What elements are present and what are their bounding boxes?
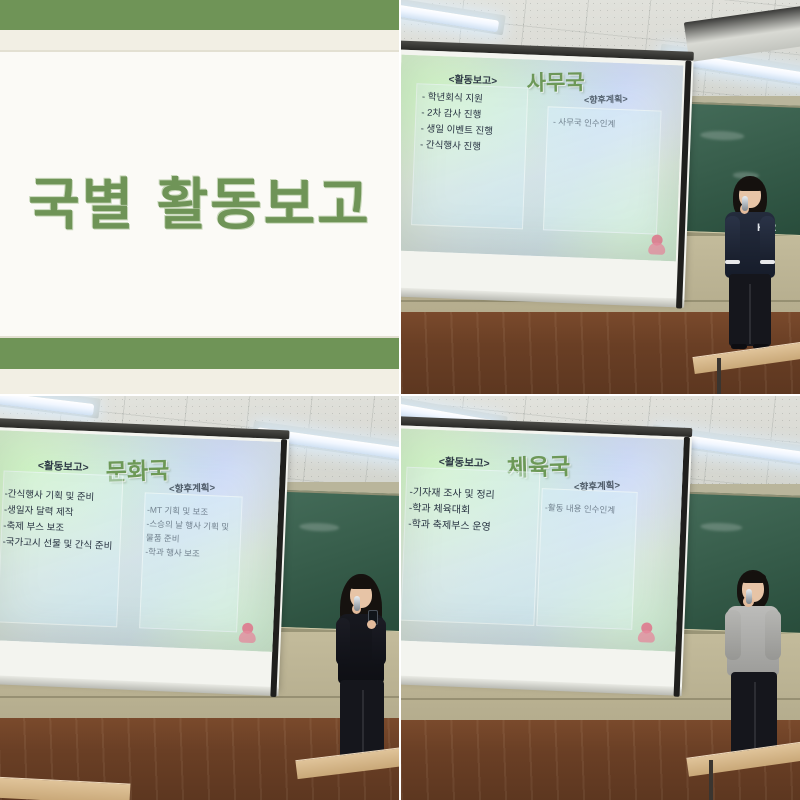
desk-leg	[709, 760, 713, 800]
activity-report-list: -기자재 조사 및 정리 -학과 체육대회 -학과 축제부스 운영	[408, 485, 538, 538]
logo-body	[638, 630, 655, 643]
chalk-smudge	[299, 522, 339, 531]
label-future-plan: <향후계획>	[584, 92, 628, 106]
collage-seam-vertical	[399, 0, 401, 800]
microphone-icon	[746, 589, 752, 604]
organization-logo-watermark	[638, 622, 656, 643]
logo-body	[648, 242, 665, 255]
chalk-smudge	[700, 130, 744, 141]
panel-munhwaguk: <활동보고> 문화국 <향후계획> -간식행사 기획 및 준비 -생일자 달력 …	[0, 396, 399, 800]
title-slide-hairline-top	[0, 50, 399, 52]
sleeve-stripe	[760, 260, 775, 264]
activity-report-list: - 학년회식 지원 - 2차 감사 진행 - 생일 이벤트 진행 - 간식행사 …	[420, 89, 528, 157]
organization-logo-watermark	[239, 622, 257, 643]
left-arm	[725, 610, 741, 660]
title-slide-bottom-band	[0, 338, 399, 370]
presenter-samuguk: K 2	[713, 176, 787, 352]
projection-screen: <활동보고> 사무국 <향후계획> - 학년회식 지원 - 2차 감사 진행 -…	[401, 40, 694, 311]
collage-seam-horizontal	[0, 394, 800, 396]
microphone-icon	[742, 196, 748, 211]
hair-fringe	[738, 179, 763, 191]
desk-leg	[717, 358, 721, 394]
projection-screen: <활동보고> 체육국 <향후계획> -기자재 조사 및 정리 -학과 체육대회 …	[401, 416, 692, 700]
photo-collage: 국별 활동보고	[0, 0, 800, 800]
panel-title-slide: 국별 활동보고	[0, 0, 399, 394]
title-slide-top-band	[0, 0, 399, 30]
panel-cheyukguk: <활동보고> 체육국 <향후계획> -기자재 조사 및 정리 -학과 체육대회 …	[401, 396, 800, 800]
hair-fringe	[349, 578, 374, 589]
pants-seam	[754, 682, 756, 752]
title-slide-card: 국별 활동보고	[0, 0, 399, 394]
future-plan-list: -MT 기획 및 보조 -스승의 날 행사 기획 및 물품 준비 -학과 행사 …	[145, 503, 243, 563]
projection-screen: <활동보고> 문화국 <향후계획> -간식행사 기획 및 준비 -생일자 달력 …	[0, 418, 290, 700]
left-arm	[336, 618, 350, 666]
shoe	[731, 344, 747, 349]
projected-slide-samuguk: <활동보고> 사무국 <향후계획> - 학년회식 지원 - 2차 감사 진행 -…	[401, 55, 683, 262]
title-slide-heading: 국별 활동보고	[0, 160, 399, 241]
projected-slide-cheyukguk: <활동보고> 체육국 <향후계획> -기자재 조사 및 정리 -학과 체육대회 …	[401, 428, 684, 651]
panel-samuguk: <활동보고> 사무국 <향후계획> - 학년회식 지원 - 2차 감사 진행 -…	[401, 0, 800, 394]
right-arm	[760, 216, 775, 262]
classroom-scene-cheyukguk: <활동보고> 체육국 <향후계획> -기자재 조사 및 정리 -학과 체육대회 …	[401, 396, 800, 800]
pants-seam	[362, 690, 364, 756]
chalk-smudge	[700, 522, 742, 531]
organization-logo-watermark	[648, 234, 666, 255]
hand-holding-phone	[367, 620, 376, 629]
presenter-munhwaguk	[326, 574, 396, 764]
microphone-icon	[354, 596, 360, 611]
classroom-scene-munhwaguk: <활동보고> 문화국 <향후계획> -간식행사 기획 및 준비 -생일자 달력 …	[0, 396, 399, 800]
presenter-cheyukguk	[715, 570, 791, 766]
slide-title-samuguk: 사무국	[526, 66, 584, 97]
left-arm	[725, 216, 740, 262]
title-slide-footer-strip	[0, 369, 399, 394]
activity-report-list: -간식행사 기획 및 준비 -생일자 달력 제작 -축제 부스 보조 -국가고시…	[2, 487, 125, 556]
classroom-scene-samuguk: <활동보고> 사무국 <향후계획> - 학년회식 지원 - 2차 감사 진행 -…	[401, 0, 800, 394]
sleeve-stripe	[725, 260, 740, 264]
projected-slide-munhwaguk: <활동보고> 문화국 <향후계획> -간식행사 기획 및 준비 -생일자 달력 …	[0, 430, 281, 652]
hair-fringe	[741, 572, 766, 583]
pants-seam	[749, 284, 751, 344]
right-arm	[765, 610, 781, 660]
logo-body	[239, 630, 256, 643]
